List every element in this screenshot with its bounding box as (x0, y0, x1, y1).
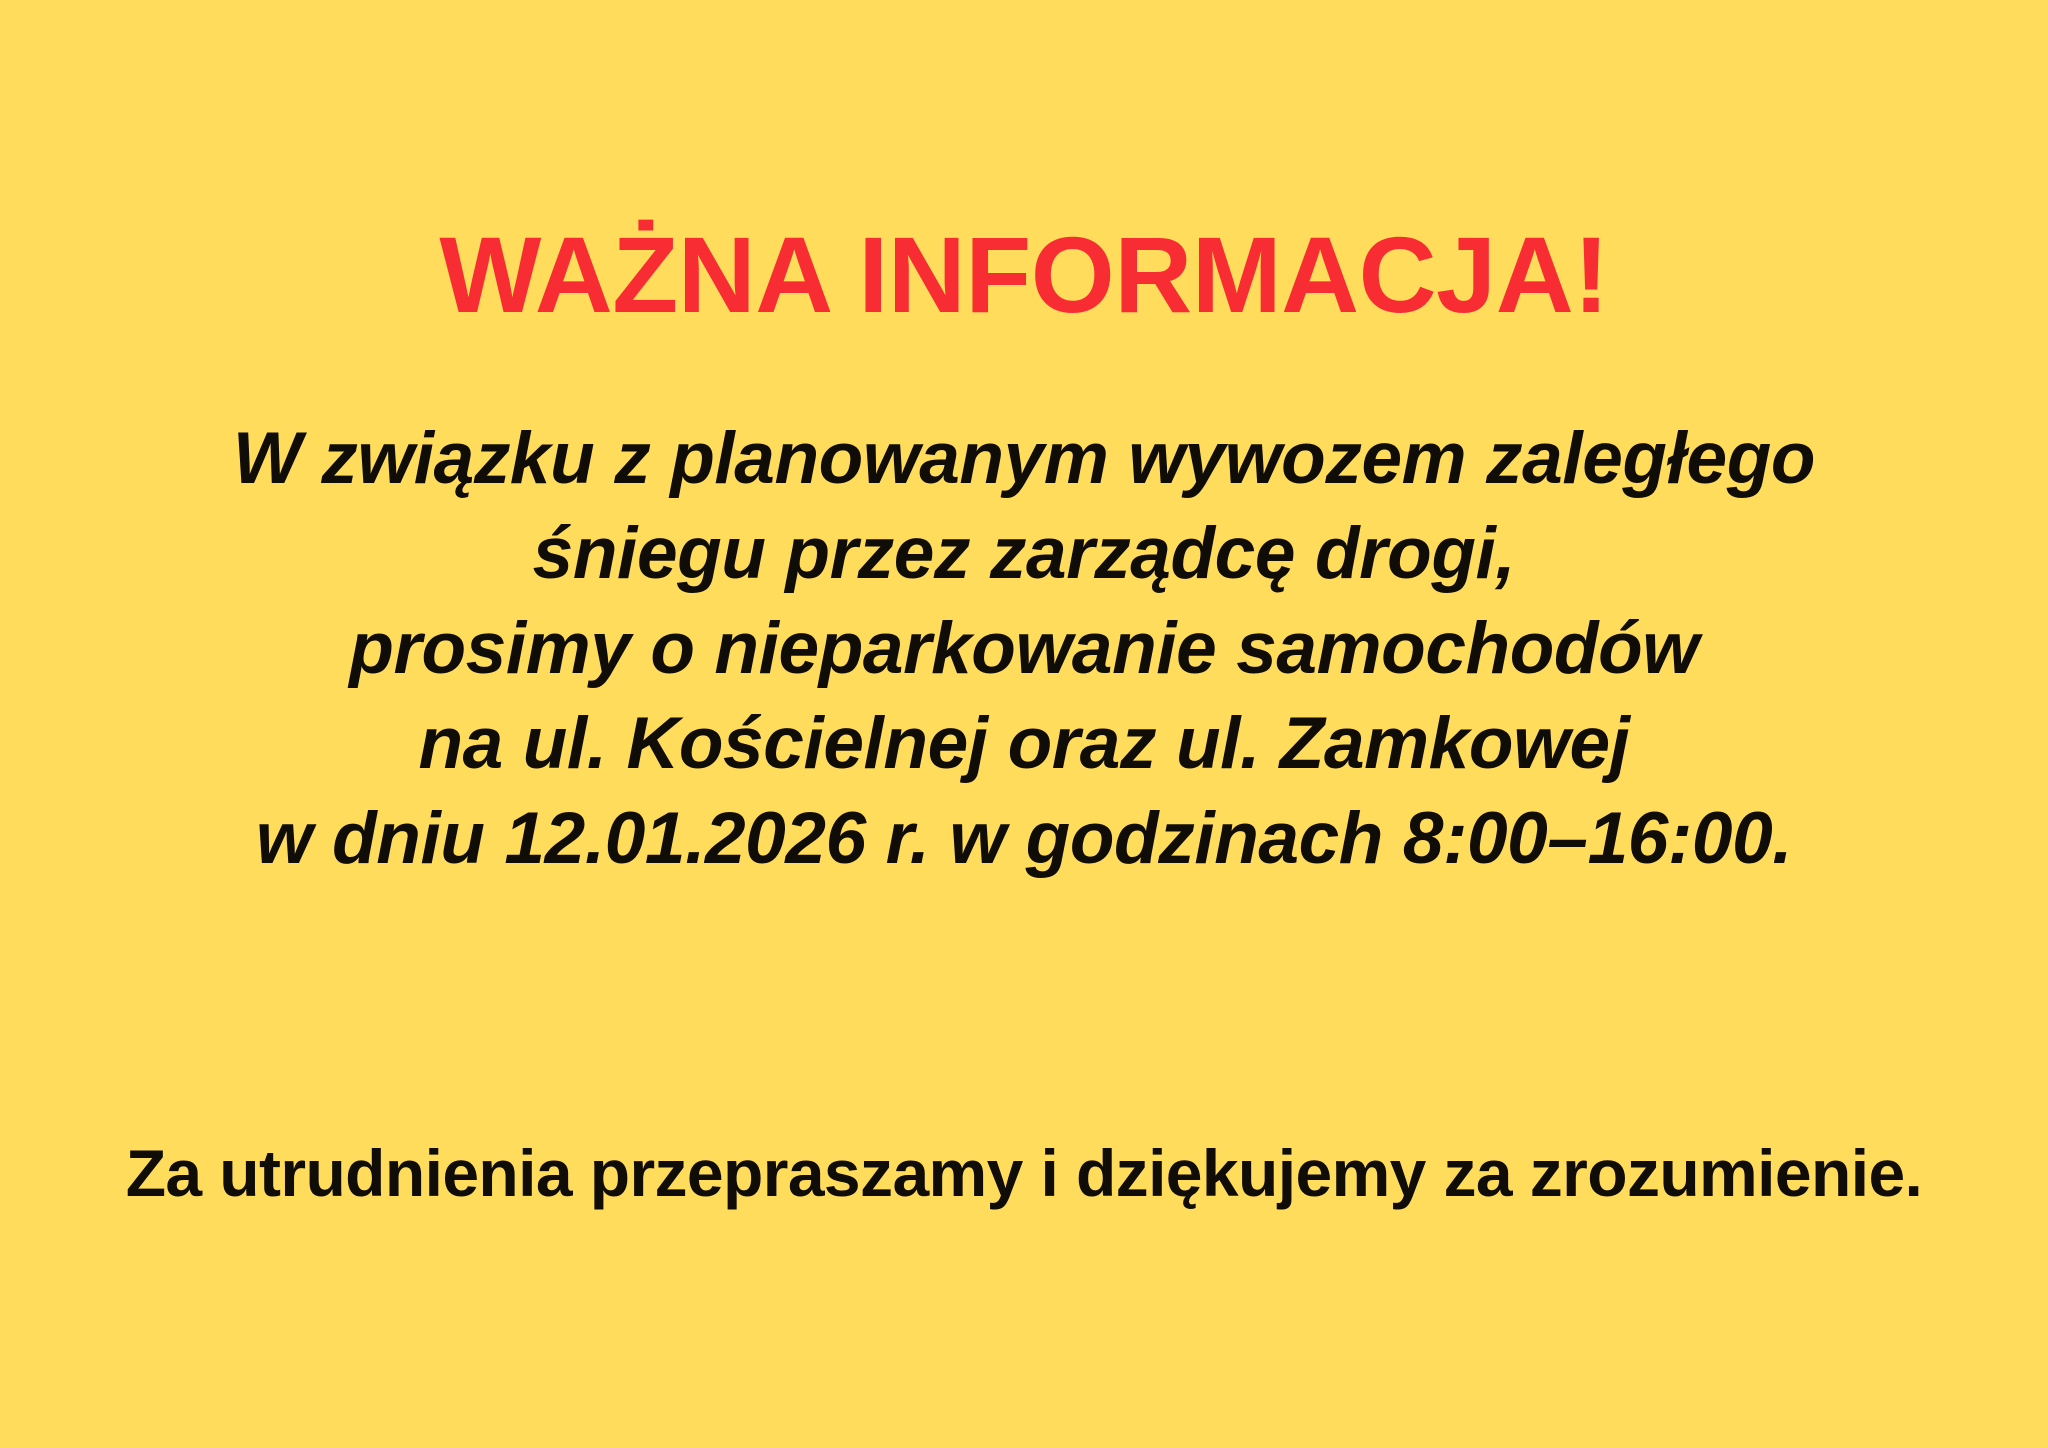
notice-poster: WAŻNA INFORMACJA! W związku z planowanym… (0, 0, 2048, 1448)
notice-body-text: W związku z planowanym wywozem zaległego… (0, 412, 2048, 886)
body-line-1: W związku z planowanym wywozem zaległego (0, 412, 2048, 507)
notice-closing-text: Za utrudnienia przepraszamy i dziękujemy… (0, 1134, 2048, 1213)
page-title: WAŻNA INFORMACJA! (0, 220, 2048, 330)
body-line-5-date-time: w dniu 12.01.2026 r. w godzinach 8:00–16… (0, 792, 2048, 887)
body-line-3: prosimy o nieparkowanie samochodów (0, 602, 2048, 697)
body-line-4-streets: na ul. Kościelnej oraz ul. Zamkowej (0, 697, 2048, 792)
body-line-2: śniegu przez zarządcę drogi, (0, 507, 2048, 602)
